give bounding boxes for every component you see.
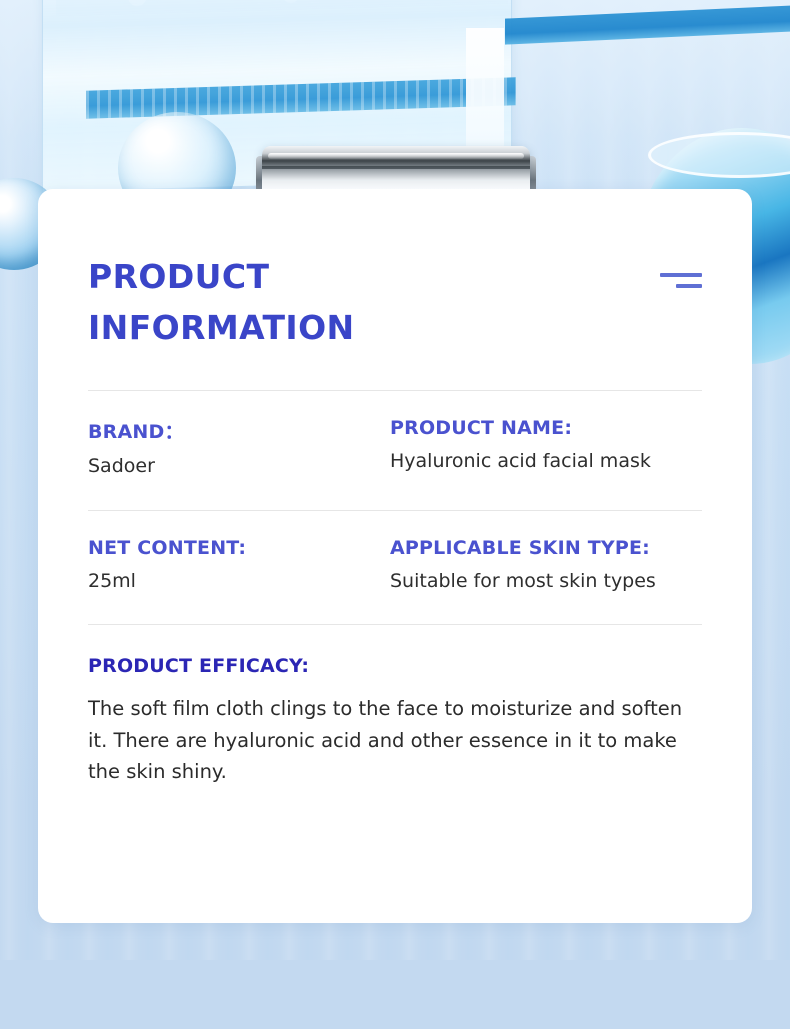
info-row: BRAND： Sadoer PRODUCT NAME: Hyaluronic a… <box>88 391 702 477</box>
menu-icon-line-top <box>660 273 702 277</box>
product-information-card: PRODUCT INFORMATION BRAND： Sadoer PRODUC… <box>38 189 752 923</box>
info-cell-product-name: PRODUCT NAME: Hyaluronic acid facial mas… <box>390 417 702 477</box>
product-efficacy-section: PRODUCT EFFICACY: The soft film cloth cl… <box>88 625 702 788</box>
info-row: NET CONTENT: 25ml APPLICABLE SKIN TYPE: … <box>88 511 702 592</box>
info-value-brand: Sadoer <box>88 455 390 477</box>
info-label-brand: BRAND： <box>88 417 390 444</box>
page-title: PRODUCT INFORMATION <box>88 251 508 353</box>
hamburger-menu-icon[interactable] <box>660 251 702 288</box>
info-label-product-name: PRODUCT NAME: <box>390 417 702 439</box>
info-value-skin-type: Suitable for most skin types <box>390 570 702 592</box>
info-label-net-content: NET CONTENT: <box>88 537 390 559</box>
info-value-product-name: Hyaluronic acid facial mask <box>390 450 702 472</box>
info-cell-brand: BRAND： Sadoer <box>88 417 390 477</box>
info-cell-skin-type: APPLICABLE SKIN TYPE: Suitable for most … <box>390 537 702 592</box>
efficacy-title: PRODUCT EFFICACY: <box>88 655 702 677</box>
card-header: PRODUCT INFORMATION <box>88 189 702 353</box>
efficacy-text: The soft film cloth clings to the face t… <box>88 693 702 788</box>
info-label-skin-type: APPLICABLE SKIN TYPE: <box>390 537 702 559</box>
info-cell-net-content: NET CONTENT: 25ml <box>88 537 390 592</box>
info-value-net-content: 25ml <box>88 570 390 592</box>
menu-icon-line-bottom <box>676 284 702 288</box>
